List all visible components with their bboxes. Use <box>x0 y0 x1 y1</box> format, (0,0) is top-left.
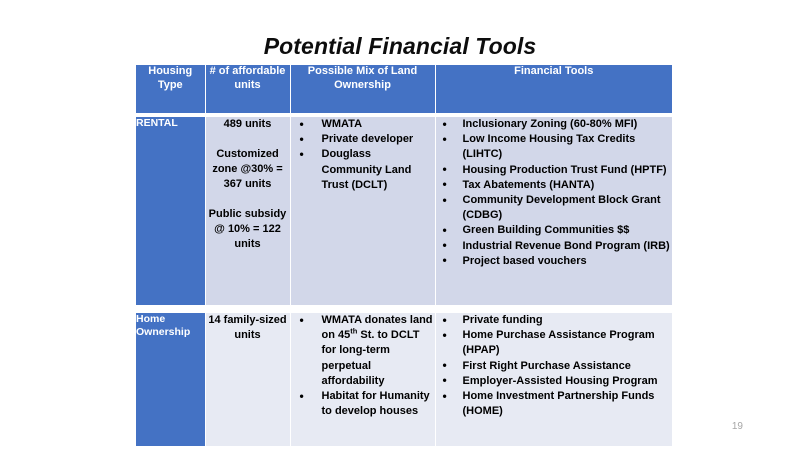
list-item: WMATA <box>291 117 435 132</box>
row-units-home-ownership: 14 family-sized units <box>205 313 290 446</box>
list-item: Housing Production Trust Fund (HPTF) <box>436 163 673 178</box>
list-item: Project based vouchers <box>436 254 673 269</box>
ordinal-suffix: th <box>350 327 357 336</box>
list-item: First Right Purchase Assistance <box>436 359 673 374</box>
list-item: Green Building Communities $$ <box>436 223 673 238</box>
row-ownership-home-ownership: WMATA donates land on 45th St. to DCLT f… <box>290 313 435 446</box>
list-item: Tax Abatements (HANTA) <box>436 178 673 193</box>
row-type-home-ownership: Home Ownership <box>136 313 205 446</box>
table-header-row: Housing Type # of affordable units Possi… <box>136 65 672 113</box>
row-gap <box>136 305 672 313</box>
list-item: Habitat for Humanity to develop houses <box>291 389 435 419</box>
list-item: Industrial Revenue Bond Program (IRB) <box>436 239 673 254</box>
slide: Potential Financial Tools Housing Type #… <box>0 0 800 450</box>
row-type-rental: RENTAL <box>136 117 205 305</box>
row-tools-rental: Inclusionary Zoning (60-80% MFI) Low Inc… <box>435 117 672 305</box>
ownership-list: WMATA donates land on 45th St. to DCLT f… <box>291 313 435 419</box>
page-number: 19 <box>732 421 743 432</box>
column-header-financial-tools: Financial Tools <box>435 65 672 113</box>
financial-tools-list: Inclusionary Zoning (60-80% MFI) Low Inc… <box>436 117 673 269</box>
list-item: Private developer <box>291 132 435 147</box>
list-item: Home Investment Partnership Funds (HOME) <box>436 389 673 419</box>
list-item: Douglass Community Land Trust (DCLT) <box>291 147 435 193</box>
list-item: Community Development Block Grant (CDBG) <box>436 193 673 223</box>
list-item: Low Income Housing Tax Credits (LIHTC) <box>436 132 673 162</box>
units-line: 14 family-sized units <box>206 313 290 343</box>
units-line: Public subsidy @ 10% = 122 units <box>206 207 290 252</box>
ownership-list: WMATA Private developer Douglass Communi… <box>291 117 435 193</box>
row-ownership-rental: WMATA Private developer Douglass Communi… <box>290 117 435 305</box>
column-header-affordable-units: # of affordable units <box>205 65 290 113</box>
list-item: WMATA donates land on 45th St. to DCLT f… <box>291 313 435 389</box>
financial-tools-table: Housing Type # of affordable units Possi… <box>136 65 672 446</box>
list-item: Inclusionary Zoning (60-80% MFI) <box>436 117 673 132</box>
units-line: 489 units <box>206 117 290 132</box>
row-units-rental: 489 units Customized zone @30% = 367 uni… <box>205 117 290 305</box>
list-item: Private funding <box>436 313 673 328</box>
financial-tools-list: Private funding Home Purchase Assistance… <box>436 313 673 419</box>
table-row: RENTAL 489 units Customized zone @30% = … <box>136 117 672 305</box>
page-title: Potential Financial Tools <box>0 33 800 60</box>
row-tools-home-ownership: Private funding Home Purchase Assistance… <box>435 313 672 446</box>
column-header-land-ownership: Possible Mix of Land Ownership <box>290 65 435 113</box>
list-item: Home Purchase Assistance Program (HPAP) <box>436 328 673 358</box>
list-item-text: WMATA donates land on 45th St. to DCLT f… <box>322 314 433 387</box>
list-item: Employer-Assisted Housing Program <box>436 374 673 389</box>
table-row: Home Ownership 14 family-sized units WMA… <box>136 313 672 446</box>
units-line: Customized zone @30% = 367 units <box>206 147 290 192</box>
column-header-housing-type: Housing Type <box>136 65 205 113</box>
